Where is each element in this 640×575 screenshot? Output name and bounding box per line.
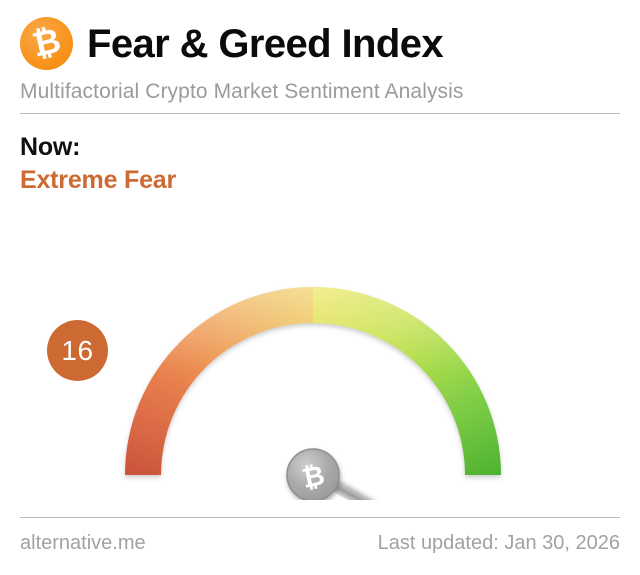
bitcoin-glyph: ₿	[29, 23, 64, 62]
index-value-badge: 16	[47, 320, 108, 381]
page-subtitle: Multifactorial Crypto Market Sentiment A…	[20, 80, 464, 104]
gauge-arc	[125, 287, 501, 475]
fear-greed-index-widget: ₿ Fear & Greed Index Multifactorial Cryp…	[0, 0, 640, 575]
header: ₿ Fear & Greed Index Multifactorial Cryp…	[0, 0, 640, 114]
footer-divider	[20, 517, 620, 518]
now-label: Now:	[20, 135, 80, 160]
brand-row: ₿ Fear & Greed Index	[20, 17, 443, 70]
header-divider	[20, 113, 620, 114]
source-label[interactable]: alternative.me	[20, 532, 146, 555]
page-title: Fear & Greed Index	[87, 24, 443, 64]
index-value: 16	[61, 337, 93, 365]
last-updated-label: Last updated: Jan 30, 2026	[378, 532, 620, 555]
bitcoin-icon: ₿	[20, 17, 73, 70]
